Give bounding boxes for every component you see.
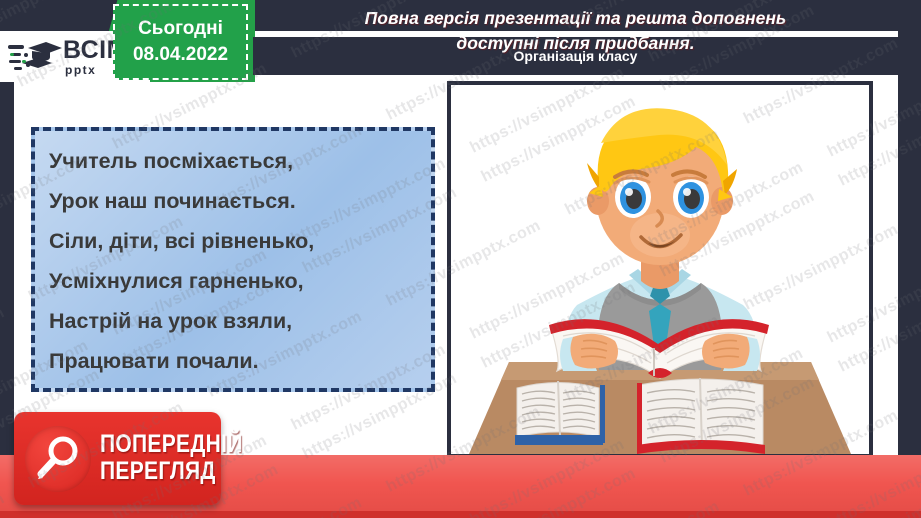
magnifier-icon: [25, 426, 91, 492]
date-badge-value: 08.04.2022: [133, 42, 228, 68]
poem-line: Працювати почали.: [49, 341, 431, 381]
today-date-badge: Сьогодні 08.04.2022: [113, 4, 248, 80]
preview-badge[interactable]: ПОПЕРЕДНІЙ ПЕРЕГЛЯД: [14, 412, 221, 505]
poem-line: Урок наш починається.: [49, 181, 431, 221]
poem-line: Настрій на урок взяли,: [49, 301, 431, 341]
purchase-notice-text: Повна версія презентації та решта доповн…: [253, 6, 898, 56]
poem-textbox: Учитель посміхається, Урок наш починаєть…: [31, 127, 435, 392]
poem-line: Усміхнулися гарненько,: [49, 261, 431, 301]
banner-line-2: доступні після придбання.: [253, 31, 898, 56]
graduation-cap-icon: [8, 37, 62, 77]
preview-badge-line-2: ПЕРЕГЛЯД: [100, 459, 243, 485]
date-badge-label: Сьогодні: [138, 16, 223, 42]
poem-line: Сіли, діти, всі рівненько,: [49, 221, 431, 261]
schoolboy-reading-book-illustration: [451, 85, 869, 454]
banner-bottom-strip: [0, 511, 921, 518]
banner-line-1: Повна версія презентації та решта доповн…: [253, 6, 898, 31]
illustration-frame: [447, 81, 873, 458]
preview-badge-line-1: ПОПЕРЕДНІЙ: [100, 432, 243, 458]
slide-root: ВСІМ pptx Сьогодні 08.04.2022 Організаці…: [0, 0, 921, 518]
poem-line: Учитель посміхається,: [49, 141, 431, 181]
